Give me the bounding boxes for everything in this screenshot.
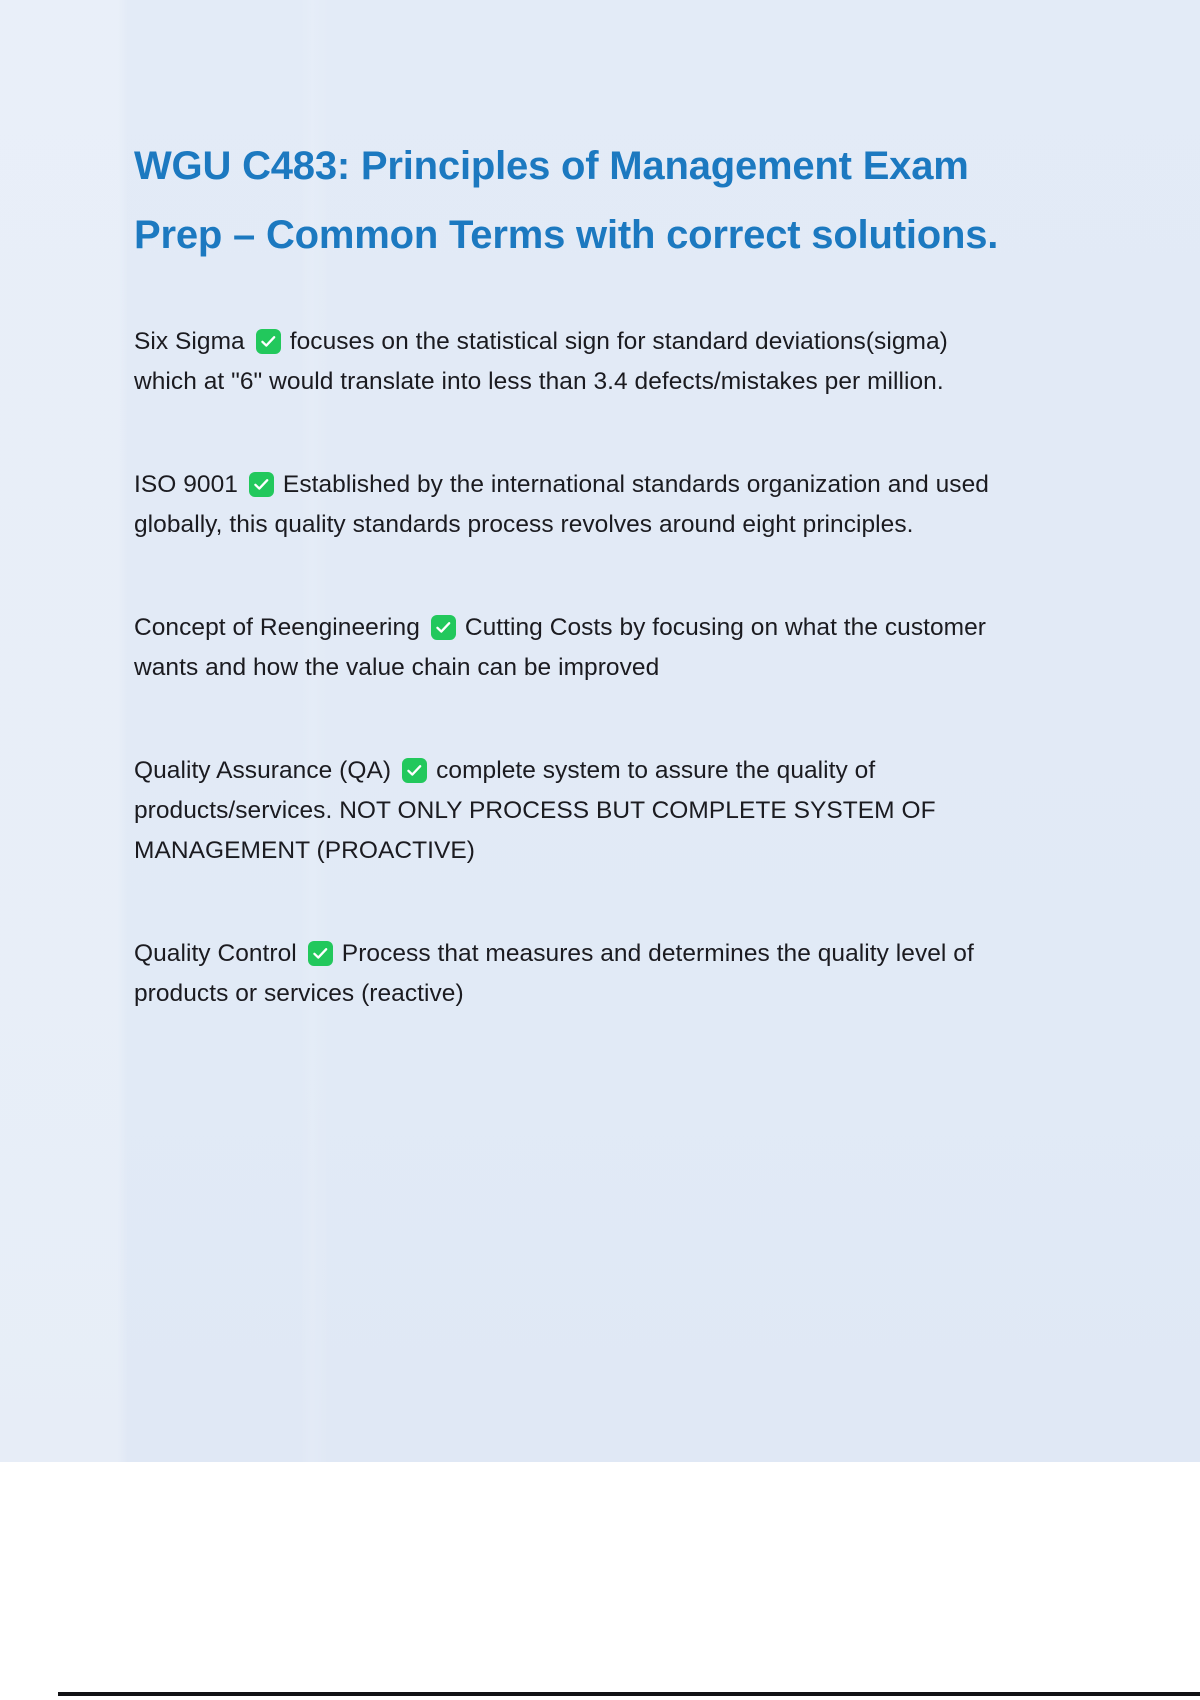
term-name: Quality Assurance (QA): [134, 757, 391, 784]
term-entry-iso-9001: ISO 9001Established by the international…: [134, 465, 1006, 545]
term-entry-six-sigma: Six Sigmafocuses on the statistical sign…: [134, 322, 1006, 402]
page-title: WGU C483: Principles of Management Exam …: [134, 0, 1004, 270]
term-name: ISO 9001: [134, 471, 238, 498]
check-box-icon: [249, 472, 274, 497]
check-box-icon: [431, 615, 456, 640]
term-entry-quality-control: Quality ControlProcess that measures and…: [134, 934, 1006, 1014]
footer-divider: [58, 1692, 1200, 1696]
check-box-icon: [256, 329, 281, 354]
term-name: Concept of Reengineering: [134, 614, 420, 641]
document-content: WGU C483: Principles of Management Exam …: [134, 0, 1014, 1014]
document-page: WGU C483: Principles of Management Exam …: [0, 0, 1200, 1462]
page-gutter-area: [0, 1462, 1200, 1700]
term-name: Six Sigma: [134, 328, 245, 355]
check-box-icon: [308, 941, 333, 966]
term-entry-quality-assurance: Quality Assurance (QA)complete system to…: [134, 751, 1006, 871]
terms-list: Six Sigmafocuses on the statistical sign…: [134, 322, 1014, 1014]
term-entry-concept-of-reengineering: Concept of ReengineeringCutting Costs by…: [134, 608, 1006, 688]
term-name: Quality Control: [134, 940, 297, 967]
check-box-icon: [402, 758, 427, 783]
